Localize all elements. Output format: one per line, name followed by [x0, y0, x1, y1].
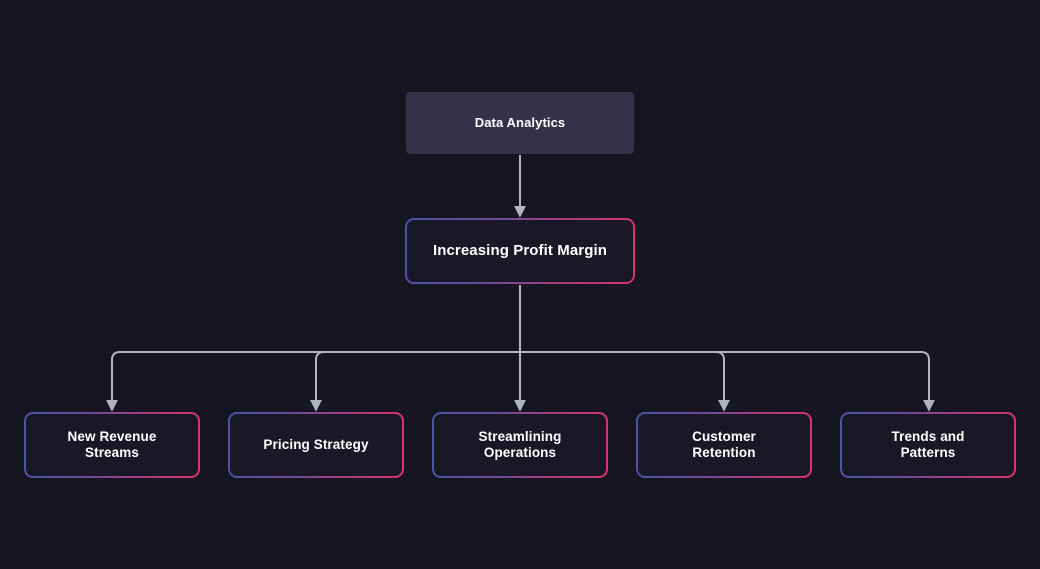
node-customer-retention-label: Customer Retention: [684, 429, 764, 462]
node-new-revenue-streams[interactable]: New Revenue Streams: [24, 412, 200, 478]
node-streamlining-operations[interactable]: Streamlining Operations: [432, 412, 608, 478]
diagram-canvas: Data Analytics Increasing Profit Margin …: [0, 0, 1040, 569]
node-streamlining-operations-body: Streamlining Operations: [434, 414, 606, 476]
node-new-revenue-streams-label: New Revenue Streams: [60, 429, 165, 462]
edge-to-pricing-strategy: [316, 352, 520, 401]
node-pricing-strategy[interactable]: Pricing Strategy: [228, 412, 404, 478]
node-increasing-profit-margin-label: Increasing Profit Margin: [425, 242, 615, 260]
node-data-analytics-label: Data Analytics: [467, 115, 574, 131]
node-new-revenue-streams-body: New Revenue Streams: [26, 414, 198, 476]
node-trends-and-patterns[interactable]: Trends and Patterns: [840, 412, 1016, 478]
node-streamlining-operations-label: Streamlining Operations: [471, 429, 570, 462]
edge-to-customer-retention: [520, 352, 724, 401]
node-pricing-strategy-body: Pricing Strategy: [230, 414, 402, 476]
node-customer-retention[interactable]: Customer Retention: [636, 412, 812, 478]
edge-to-new-revenue-streams: [112, 352, 520, 401]
node-data-analytics[interactable]: Data Analytics: [406, 92, 634, 154]
node-increasing-profit-margin[interactable]: Increasing Profit Margin: [405, 218, 635, 284]
node-customer-retention-body: Customer Retention: [638, 414, 810, 476]
edge-to-trends-and-patterns: [520, 352, 929, 401]
node-increasing-profit-margin-body: Increasing Profit Margin: [407, 220, 633, 282]
connector-layer: [0, 0, 1040, 569]
node-pricing-strategy-label: Pricing Strategy: [255, 437, 376, 453]
node-trends-and-patterns-body: Trends and Patterns: [842, 414, 1014, 476]
node-trends-and-patterns-label: Trends and Patterns: [883, 429, 972, 462]
